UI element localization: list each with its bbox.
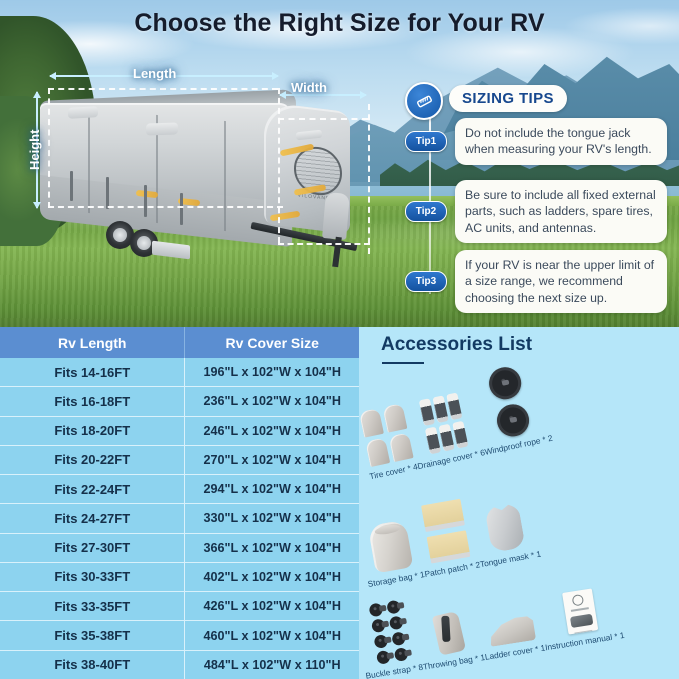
cell-cover-size: 236"L x 102"W x 104"H (185, 387, 359, 415)
cell-length: Fits 30-33FT (0, 563, 185, 591)
sizing-tips-panel: SIZING TIPS Tip1 Do not include the tong… (405, 82, 673, 312)
accessory-throwing-bag: Throwing bag * 1 (415, 609, 485, 672)
rv-seam (224, 121, 226, 231)
cell-cover-size: 460"L x 102"W x 104"H (185, 621, 359, 649)
table-row: Fits 16-18FT 236"L x 102"W x 104"H (0, 387, 359, 416)
hero-section: Choose the Right Size for Your RV VILOVA… (0, 0, 679, 327)
cell-length: Fits 27-30FT (0, 534, 185, 562)
rv-cover-illustration: VILOVANDENG (28, 85, 358, 275)
tip-text-3: If your RV is near the upper limit of a … (455, 250, 667, 313)
accessory-label: Tongue mask * 1 (479, 549, 542, 570)
tip-row-3: Tip3 If your RV is near the upper limit … (405, 250, 667, 313)
cell-cover-size: 426"L x 102"W x 104"H (185, 592, 359, 620)
cell-length: Fits 33-35FT (0, 592, 185, 620)
accessories-panel: Accessories List Tire cover * 4 (359, 327, 679, 679)
height-dash-left (48, 88, 50, 208)
accessories-title: Accessories List (381, 334, 532, 356)
tip-text-1: Do not include the tongue jack when meas… (455, 118, 667, 165)
cell-cover-size: 270"L x 102"W x 104"H (185, 446, 359, 474)
rv-strap (180, 193, 183, 225)
accessory-tongue-mask: Tongue mask * 1 (470, 499, 541, 569)
lower-section: Rv Length Rv Cover Size Fits 14-16FT 196… (0, 327, 679, 679)
width-dash-bottom (278, 243, 370, 245)
cell-cover-size: 246"L x 102"W x 104"H (185, 417, 359, 445)
cell-length: Fits 24-27FT (0, 504, 185, 532)
table-row: Fits 14-16FT 196"L x 102"W x 104"H (0, 358, 359, 387)
width-dash-far (368, 104, 370, 254)
table-row: Fits 35-38FT 460"L x 102"W x 104"H (0, 621, 359, 650)
rv-seam (88, 109, 90, 213)
tip-badge-3: Tip3 (405, 271, 447, 292)
accessory-label: Instruction manual * 1 (544, 630, 625, 652)
rv-strap (70, 171, 73, 201)
table-row: Fits 24-27FT 330"L x 102"W x 104"H (0, 504, 359, 533)
rv-vent (146, 122, 178, 135)
cell-cover-size: 366"L x 102"W x 104"H (185, 534, 359, 562)
title-underline (382, 362, 424, 364)
cell-cover-size: 294"L x 102"W x 104"H (185, 475, 359, 503)
accessory-ladder-cover: Ladder cover * 1 (479, 613, 545, 662)
height-label: Height (27, 130, 42, 170)
tongue-mask-icon (484, 502, 525, 553)
tip-row-1: Tip1 Do not include the tongue jack when… (405, 118, 667, 165)
throwing-bag-icon (433, 611, 465, 655)
ruler-icon (405, 82, 443, 120)
ladder-cover-icon (487, 614, 537, 647)
cell-cover-size: 196"L x 102"W x 104"H (185, 358, 359, 386)
accessory-label: Windproof rope * 2 (484, 433, 554, 457)
length-label: Length (133, 66, 176, 81)
cell-length: Fits 22-24FT (0, 475, 185, 503)
column-header-length: Rv Length (0, 327, 185, 358)
accessory-buckle-strap: Buckle strap * 8 (355, 598, 424, 679)
table-row: Fits 30-33FT 402"L x 102"W x 104"H (0, 563, 359, 592)
cell-length: Fits 18-20FT (0, 417, 185, 445)
accessory-instruction-manual: Instruction manual * 1 (537, 584, 625, 652)
cell-cover-size: 484"L x 102"W x 110"H (185, 651, 359, 679)
instruction-manual-icon (562, 588, 598, 634)
width-label: Width (291, 80, 327, 95)
accessory-storage-bag: Storage bag * 1 (358, 518, 426, 589)
accessory-label: Drainage cover * 6 (416, 447, 485, 471)
cell-length: Fits 35-38FT (0, 621, 185, 649)
table-row: Fits 18-20FT 246"L x 102"W x 104"H (0, 417, 359, 446)
sizing-tips-title: SIZING TIPS (449, 85, 567, 112)
table-row: Fits 38-40FT 484"L x 102"W x 110"H (0, 651, 359, 679)
table-row: Fits 20-22FT 270"L x 102"W x 104"H (0, 446, 359, 475)
cell-length: Fits 20-22FT (0, 446, 185, 474)
width-dash-near (278, 88, 280, 243)
tip-badge-2: Tip2 (405, 201, 447, 222)
rv-strap (106, 177, 109, 209)
wheel-hub (113, 228, 127, 242)
storage-bag-icon (368, 520, 414, 574)
cell-length: Fits 38-40FT (0, 651, 185, 679)
table-row: Fits 27-30FT 366"L x 102"W x 104"H (0, 534, 359, 563)
cell-cover-size: 402"L x 102"W x 104"H (185, 563, 359, 591)
cell-length: Fits 16-18FT (0, 387, 185, 415)
cell-length: Fits 14-16FT (0, 358, 185, 386)
width-dash-top (278, 118, 368, 120)
rv-entry-step (152, 241, 190, 260)
length-dash-top (48, 88, 278, 90)
rv-strap (144, 185, 147, 217)
buckle-strap-icon (368, 600, 408, 665)
tip-badge-1: Tip1 (405, 131, 447, 152)
windproof-rope-icon (486, 364, 532, 439)
tip-row-2: Tip2 Be sure to include all fixed extern… (405, 180, 667, 243)
table-row: Fits 22-24FT 294"L x 102"W x 104"H (0, 475, 359, 504)
table-row: Fits 33-35FT 426"L x 102"W x 104"H (0, 592, 359, 621)
accessories-row-3: Buckle strap * 8 Throwing bag * 1 Ladder… (352, 585, 396, 679)
cell-cover-size: 330"L x 102"W x 104"H (185, 504, 359, 532)
drainage-cover-icon (419, 392, 469, 454)
wheel-hub (137, 236, 151, 250)
accessory-label: Buckle strap * 8 (365, 662, 424, 679)
column-header-cover-size: Rv Cover Size (185, 327, 359, 358)
patch-icon (421, 499, 471, 564)
page-title: Choose the Right Size for Your RV (0, 9, 679, 38)
tire-cover-icon (359, 403, 414, 467)
infographic-page: Choose the Right Size for Your RV VILOVA… (0, 0, 679, 679)
bottom-dash (48, 206, 283, 208)
table-header-row: Rv Length Rv Cover Size (0, 327, 359, 358)
accessory-label: Throwing bag * 1 (422, 652, 486, 672)
size-table: Rv Length Rv Cover Size Fits 14-16FT 196… (0, 327, 359, 679)
tip-text-2: Be sure to include all fixed external pa… (455, 180, 667, 243)
rv-tongue-jack-cover (322, 192, 350, 240)
rv-vent (68, 106, 98, 119)
accessories-grid: Tire cover * 4 Drainage cover * 6 W (359, 371, 679, 679)
